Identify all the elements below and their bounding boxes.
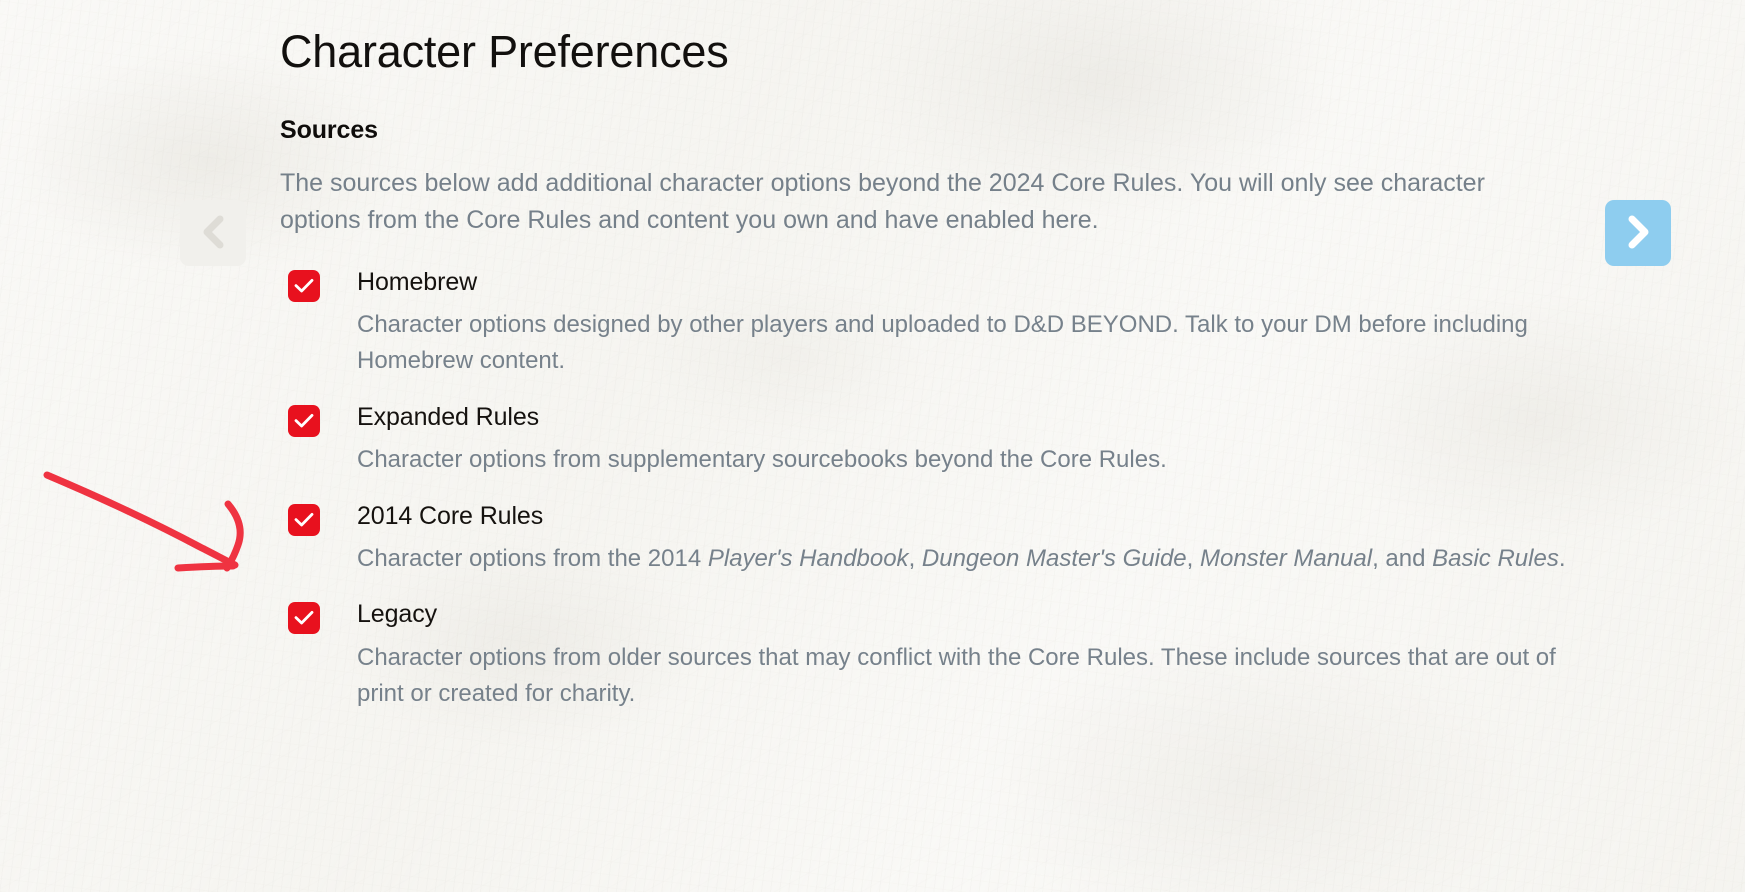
source-option-description: Character options from the 2014 Player's… <box>357 532 1579 577</box>
source-option-label[interactable]: 2014 Core Rules <box>357 501 1580 532</box>
character-preferences-page: Character Preferences Sources The source… <box>0 0 1745 892</box>
sources-section-heading: Sources <box>280 78 1580 145</box>
chevron-left-icon <box>198 215 228 252</box>
source-option-checkbox[interactable] <box>288 504 320 536</box>
source-option-checkbox[interactable] <box>288 270 320 302</box>
checkmark-icon <box>293 609 315 627</box>
sources-section-description: The sources below add additional charact… <box>280 145 1530 239</box>
source-option-row: 2014 Core RulesCharacter options from th… <box>280 501 1580 578</box>
checkmark-icon <box>293 277 315 295</box>
source-option-row: HomebrewCharacter options designed by ot… <box>280 267 1580 380</box>
source-option-description: Character options from supplementary sou… <box>357 433 1579 478</box>
pager-previous-button[interactable] <box>180 200 246 266</box>
source-option-description: Character options designed by other play… <box>357 298 1579 380</box>
source-option-checkbox[interactable] <box>288 602 320 634</box>
source-option-label[interactable]: Homebrew <box>357 267 1580 298</box>
checkmark-icon <box>293 511 315 529</box>
chevron-right-icon <box>1623 215 1653 252</box>
preferences-content: Character Preferences Sources The source… <box>280 0 1580 713</box>
pager-next-button[interactable] <box>1605 200 1671 266</box>
source-option-description: Character options from older sources tha… <box>357 631 1579 713</box>
source-option-label[interactable]: Legacy <box>357 599 1580 630</box>
source-option-row: LegacyCharacter options from older sourc… <box>280 599 1580 712</box>
source-option-checkbox[interactable] <box>288 405 320 437</box>
source-option-row: Expanded RulesCharacter options from sup… <box>280 402 1580 479</box>
checkmark-icon <box>293 412 315 430</box>
sources-options-list: HomebrewCharacter options designed by ot… <box>280 239 1580 713</box>
source-option-label[interactable]: Expanded Rules <box>357 402 1580 433</box>
page-title: Character Preferences <box>280 0 1580 78</box>
annotation-arrow <box>30 465 280 585</box>
